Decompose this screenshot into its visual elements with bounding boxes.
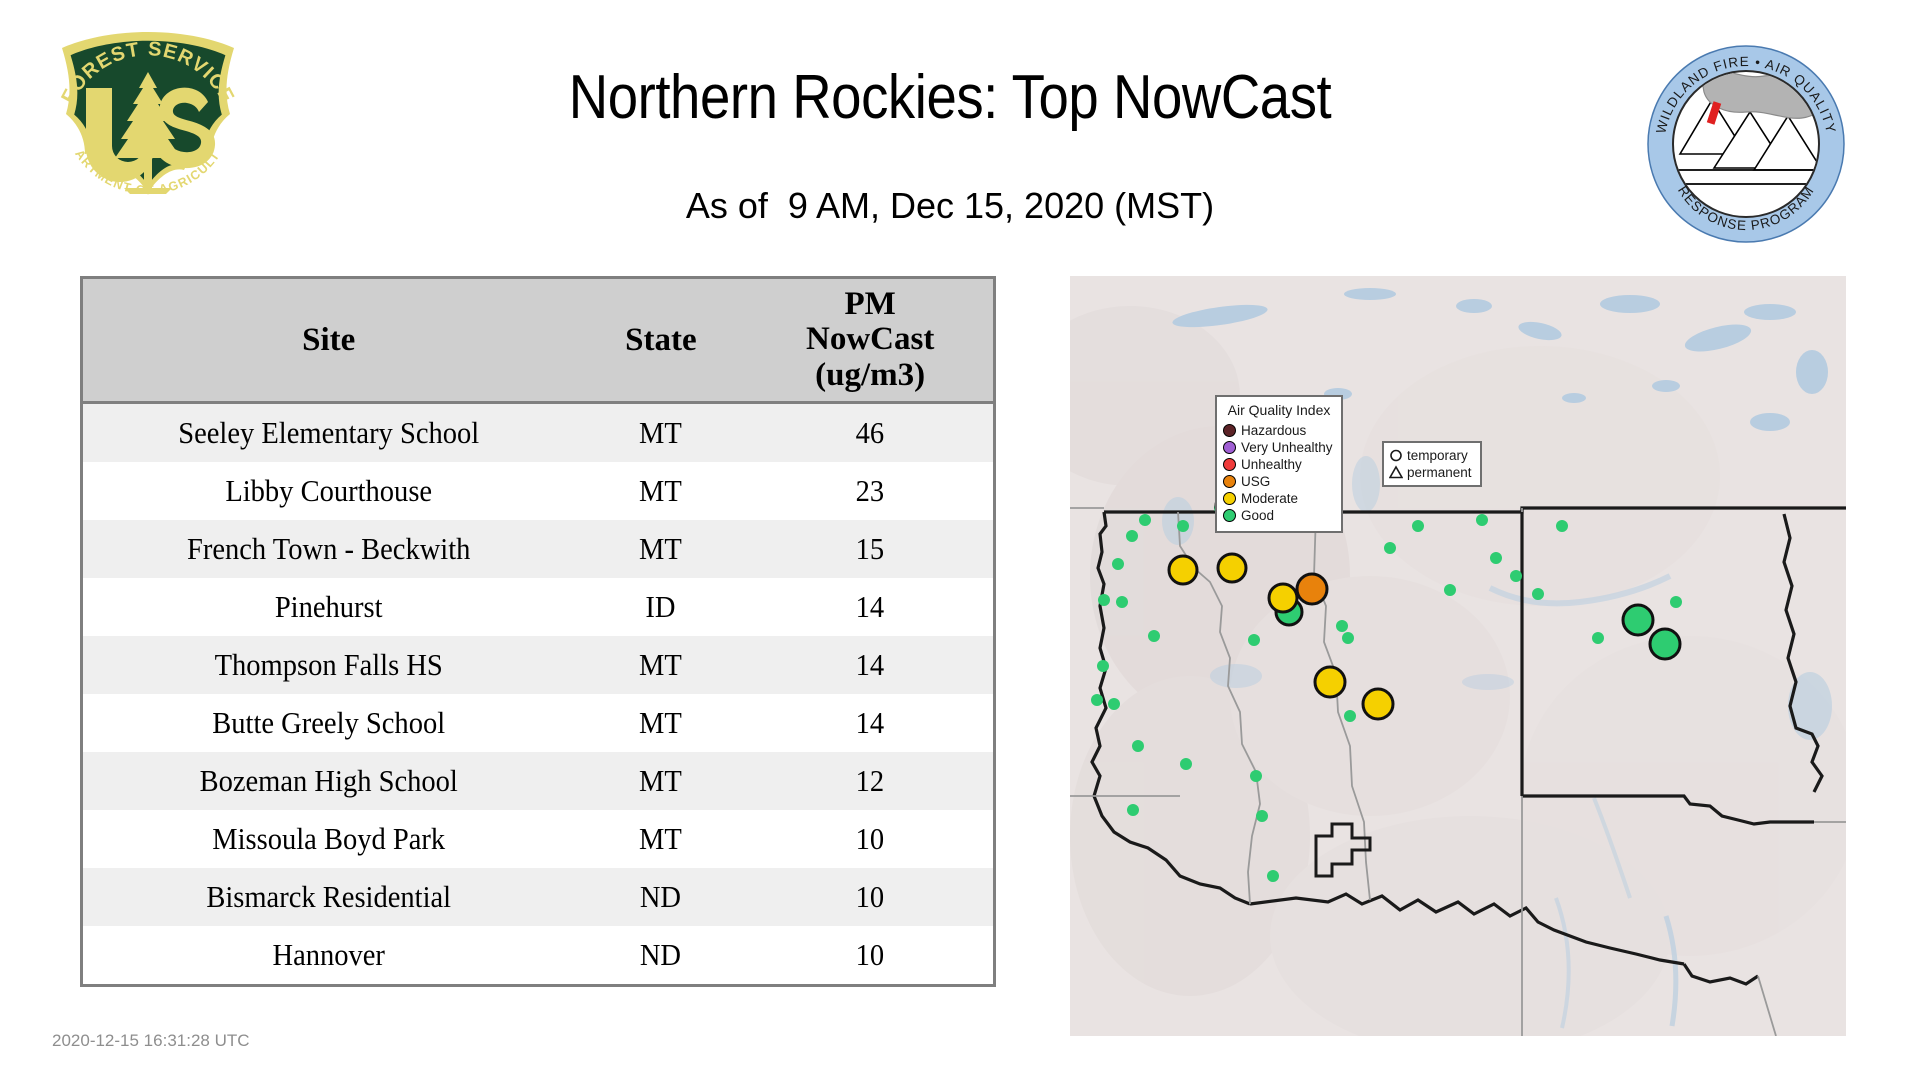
generated-timestamp: 2020-12-15 16:31:28 UTC (52, 1031, 250, 1051)
monitor-marker[interactable] (1091, 694, 1103, 706)
cell-site: Butte Greely School (103, 694, 555, 752)
monitor-marker[interactable] (1342, 632, 1354, 644)
aqi-swatch-icon (1223, 458, 1236, 471)
monitor-marker[interactable] (1269, 584, 1297, 612)
cell-site: Missoula Boyd Park (103, 810, 555, 868)
monitor-marker[interactable] (1108, 698, 1120, 710)
table-row: Bismarck ResidentialND10 (83, 868, 993, 926)
top-nowcast-table: Site State PM NowCast (ug/m3) Seeley Ele… (80, 276, 996, 987)
aqi-legend-label: Very Unhealthy (1241, 440, 1333, 455)
cell-state: MT (581, 752, 740, 810)
aqi-legend-row: Good (1223, 507, 1335, 524)
monitor-marker[interactable] (1297, 574, 1327, 604)
site-type-temporary: temporary (1389, 447, 1475, 464)
monitor-marker[interactable] (1177, 520, 1189, 532)
monitor-marker[interactable] (1098, 594, 1110, 606)
monitor-marker[interactable] (1363, 689, 1393, 719)
monitor-marker[interactable] (1650, 629, 1680, 659)
aqi-legend-row: Unhealthy (1223, 456, 1335, 473)
aqi-legend-row: Very Unhealthy (1223, 439, 1335, 456)
cell-site: French Town - Beckwith (103, 520, 555, 578)
forest-service-logo: FOREST SERVICE DEPARTMENT OF AGRICULTURE (48, 28, 248, 233)
cell-pm-nowcast: 10 (757, 868, 983, 926)
table-header-row: Site State PM NowCast (ug/m3) (83, 279, 993, 403)
triangle-marker-icon (1389, 465, 1403, 480)
column-header-pm-line-1: PM (747, 287, 993, 323)
aqi-swatch-icon (1223, 441, 1236, 454)
cell-site: Bozeman High School (103, 752, 555, 810)
monitor-marker[interactable] (1218, 554, 1246, 582)
cell-pm-nowcast: 46 (757, 403, 983, 463)
cell-site: Seeley Elementary School (103, 403, 555, 463)
monitor-marker[interactable] (1180, 758, 1192, 770)
cell-pm-nowcast: 12 (757, 752, 983, 810)
monitor-marker[interactable] (1510, 570, 1522, 582)
cell-pm-nowcast: 23 (757, 462, 983, 520)
monitor-marker[interactable] (1623, 605, 1653, 635)
wildland-fire-air-quality-response-program-icon: WILDLAND FIRE • AIR QUALITY RESPONSE PRO… (1646, 44, 1846, 244)
table-row: HannoverND10 (83, 926, 993, 984)
wildland-fire-air-quality-response-program-logo: WILDLAND FIRE • AIR QUALITY RESPONSE PRO… (1646, 44, 1846, 244)
aqi-swatch-icon (1223, 492, 1236, 505)
table-row: French Town - BeckwithMT15 (83, 520, 993, 578)
monitor-marker[interactable] (1315, 667, 1345, 697)
air-quality-index-legend: Air Quality Index HazardousVery Unhealth… (1215, 395, 1343, 533)
monitor-marker[interactable] (1248, 634, 1260, 646)
column-header-site: Site (83, 279, 574, 403)
table-row: Seeley Elementary SchoolMT46 (83, 403, 993, 463)
cell-state: ND (581, 868, 740, 926)
table-row: PinehurstID14 (83, 578, 993, 636)
cell-site: Hannover (103, 926, 555, 984)
monitor-marker[interactable] (1139, 514, 1151, 526)
monitor-marker[interactable] (1592, 632, 1604, 644)
cell-state: MT (581, 810, 740, 868)
aqi-legend-title: Air Quality Index (1223, 402, 1335, 418)
site-type-permanent-label: permanent (1407, 465, 1472, 480)
aqi-legend-label: Hazardous (1241, 423, 1306, 438)
monitor-marker[interactable] (1250, 770, 1262, 782)
monitor-marker[interactable] (1490, 552, 1502, 564)
site-type-permanent: permanent (1389, 464, 1475, 481)
monitor-marker[interactable] (1556, 520, 1568, 532)
cell-pm-nowcast: 14 (757, 694, 983, 752)
aqi-legend-row: Hazardous (1223, 422, 1335, 439)
monitor-marker[interactable] (1127, 804, 1139, 816)
cell-pm-nowcast: 10 (757, 926, 983, 984)
monitor-marker[interactable] (1112, 558, 1124, 570)
map-canvas (1070, 276, 1846, 1036)
table-row: Libby CourthouseMT23 (83, 462, 993, 520)
cell-state: MT (581, 520, 740, 578)
aqi-swatch-icon (1223, 424, 1236, 437)
aqi-legend-label: Good (1241, 508, 1274, 523)
monitor-marker[interactable] (1344, 710, 1356, 722)
monitor-marker[interactable] (1097, 660, 1109, 672)
cell-pm-nowcast: 14 (757, 636, 983, 694)
cell-pm-nowcast: 10 (757, 810, 983, 868)
monitor-marker[interactable] (1126, 530, 1138, 542)
monitor-marker[interactable] (1670, 596, 1682, 608)
cell-state: ND (581, 926, 740, 984)
monitor-marker[interactable] (1169, 556, 1197, 584)
monitor-marker[interactable] (1116, 596, 1128, 608)
aqi-legend-row: Moderate (1223, 490, 1335, 507)
cell-state: MT (581, 403, 740, 463)
monitor-marker[interactable] (1412, 520, 1424, 532)
aqi-legend-row: USG (1223, 473, 1335, 490)
air-quality-monitor-map[interactable] (1070, 276, 1846, 1036)
aqi-legend-label: Unhealthy (1241, 457, 1302, 472)
monitor-marker[interactable] (1256, 810, 1268, 822)
cell-state: ID (581, 578, 740, 636)
table-row: Thompson Falls HSMT14 (83, 636, 993, 694)
aqi-swatch-icon (1223, 475, 1236, 488)
column-header-pm-line-2: NowCast (747, 322, 993, 358)
forest-service-shield-icon: FOREST SERVICE DEPARTMENT OF AGRICULTURE (48, 28, 248, 233)
column-header-pm-line-3: (ug/m3) (747, 358, 993, 394)
cell-state: MT (581, 636, 740, 694)
page-subtitle: As of 9 AM, Dec 15, 2020 (MST) (260, 185, 1640, 227)
cell-pm-nowcast: 15 (757, 520, 983, 578)
page-title: Northern Rockies: Top NowCast (343, 62, 1557, 133)
cell-site: Bismarck Residential (103, 868, 555, 926)
site-type-temporary-label: temporary (1407, 448, 1468, 463)
site-type-legend: temporary permanent (1382, 441, 1482, 487)
cell-site: Thompson Falls HS (103, 636, 555, 694)
column-header-pm-nowcast: PM NowCast (ug/m3) (747, 279, 993, 403)
monitor-marker[interactable] (1336, 620, 1348, 632)
aqi-legend-label: Moderate (1241, 491, 1298, 506)
table-row: Bozeman High SchoolMT12 (83, 752, 993, 810)
monitor-marker[interactable] (1384, 542, 1396, 554)
aqi-swatch-icon (1223, 509, 1236, 522)
aqi-legend-label: USG (1241, 474, 1270, 489)
column-header-state: State (574, 279, 747, 403)
cell-state: MT (581, 694, 740, 752)
table-row: Butte Greely SchoolMT14 (83, 694, 993, 752)
monitor-marker[interactable] (1267, 870, 1279, 882)
cell-pm-nowcast: 14 (757, 578, 983, 636)
monitor-marker[interactable] (1532, 588, 1544, 600)
cell-site: Libby Courthouse (103, 462, 555, 520)
monitor-marker[interactable] (1132, 740, 1144, 752)
circle-marker-icon (1389, 448, 1403, 463)
monitor-marker[interactable] (1148, 630, 1160, 642)
cell-state: MT (581, 462, 740, 520)
table-row: Missoula Boyd ParkMT10 (83, 810, 993, 868)
monitor-marker[interactable] (1476, 514, 1488, 526)
cell-site: Pinehurst (103, 578, 555, 636)
monitor-marker[interactable] (1444, 584, 1456, 596)
